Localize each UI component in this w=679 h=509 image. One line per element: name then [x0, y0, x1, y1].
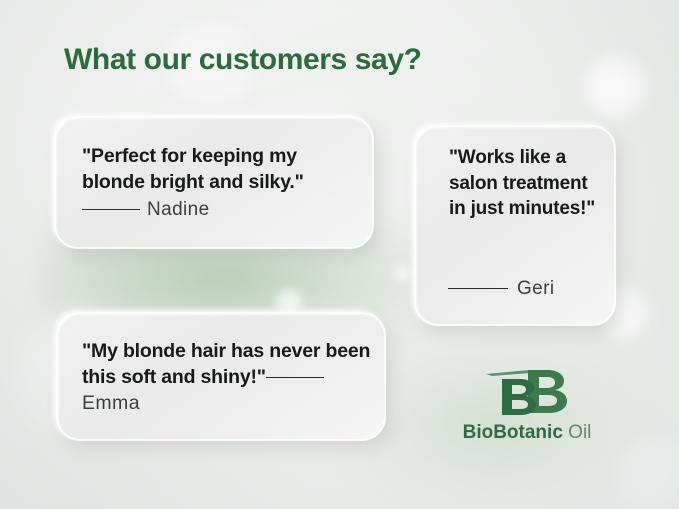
- testimonial-attribution: Geri: [448, 278, 555, 300]
- attribution-rule: [448, 288, 508, 289]
- testimonial-graphic: What our customers say? "Perfect for kee…: [0, 0, 679, 509]
- brand-logo: BioBotanic Oil: [446, 368, 608, 452]
- brand-name-secondary: Oil: [563, 422, 592, 443]
- bb-monogram-icon: [484, 368, 570, 418]
- attribution-rule: [266, 377, 324, 378]
- testimonial-quote-text: "My blonde hair has never been this soft…: [82, 340, 370, 388]
- testimonial-author: Nadine: [147, 199, 210, 220]
- testimonial-author: Emma: [82, 392, 140, 414]
- brand-wordmark: BioBotanic Oil: [446, 422, 608, 444]
- testimonial-card-geri: "Works like a salon treatment in just mi…: [415, 126, 615, 325]
- attribution-rule: [82, 209, 140, 210]
- testimonial-quote: "Works like a salon treatment in just mi…: [449, 145, 609, 222]
- testimonial-card-nadine: "Perfect for keeping my blonde bright an…: [55, 117, 373, 248]
- testimonial-quote: "Perfect for keeping my blonde bright an…: [82, 143, 360, 195]
- testimonial-author: Geri: [517, 278, 555, 299]
- testimonial-quote: "My blonde hair has never been this soft…: [82, 338, 382, 416]
- testimonial-card-emma: "My blonde hair has never been this soft…: [57, 313, 385, 440]
- testimonial-attribution: Nadine: [82, 199, 210, 221]
- page-title: What our customers say?: [64, 43, 422, 77]
- brand-name-primary: BioBotanic: [463, 422, 563, 443]
